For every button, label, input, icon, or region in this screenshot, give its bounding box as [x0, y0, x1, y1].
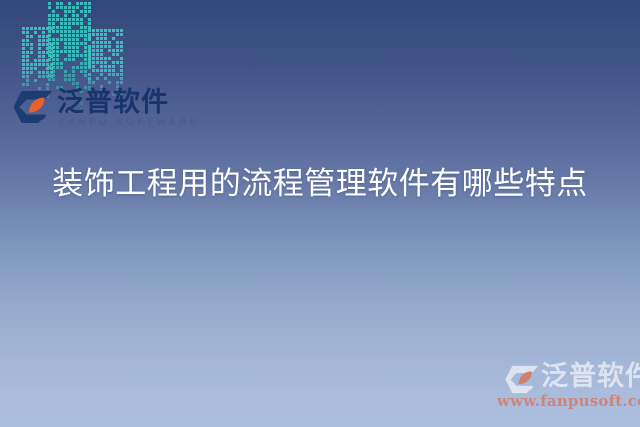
promo-banner: 泛普软件 FANPU SOFTWARE 装饰工程用的流程管理软件有哪些特点 泛普… — [0, 0, 640, 427]
brand-logo: 泛普软件 FANPU SOFTWARE — [13, 88, 153, 132]
logo-company-name-en: FANPU SOFTWARE — [59, 117, 200, 128]
page-title: 装饰工程用的流程管理软件有哪些特点 — [0, 162, 640, 206]
watermark-company-name: 泛普软件 — [541, 361, 640, 392]
fanpu-logo-mark-icon — [13, 90, 53, 124]
fanpu-watermark-mark-icon — [505, 365, 539, 394]
watermark-url: www.fanpusoft.com — [497, 392, 640, 410]
logo-company-name-cn: 泛普软件 — [57, 88, 169, 118]
watermark: 泛普软件 www.fanpusoft.com — [487, 361, 637, 417]
pixel-tower-mosaic — [0, 0, 160, 90]
